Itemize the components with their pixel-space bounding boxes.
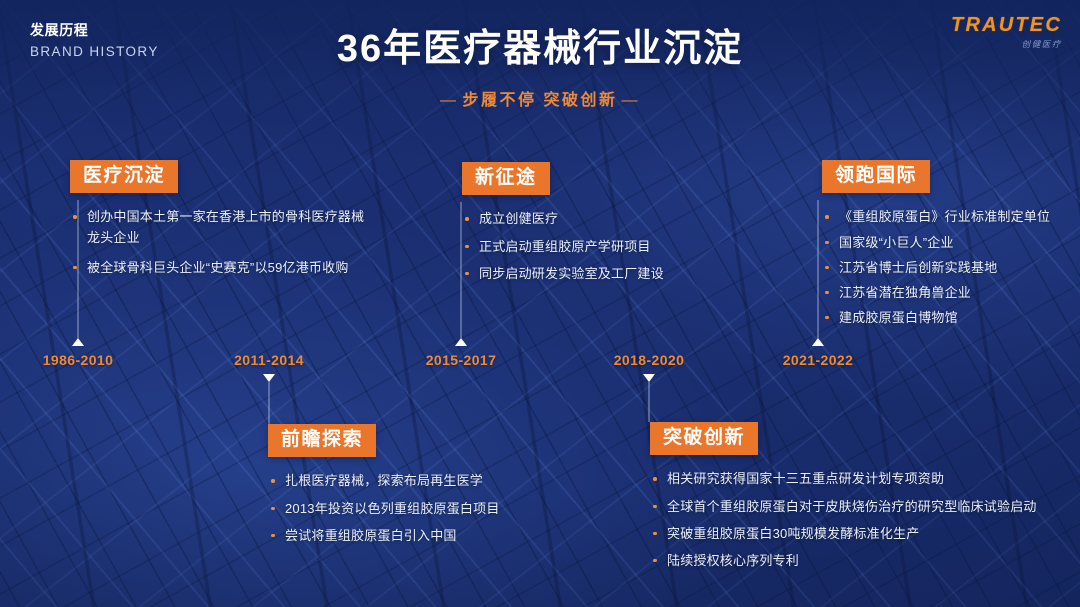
timeline-card-bullet: 全球首个重组胶原蛋白对于皮肤烧伤治疗的研究型临床试验启动 (650, 497, 1080, 517)
timeline-card-bullet: 相关研究获得国家十三五重点研发计划专项资助 (650, 469, 1080, 489)
timeline-card-bullet: 2013年投资以色列重组胶原蛋白项目 (268, 499, 568, 519)
subtitle-dash-right: — (617, 92, 644, 109)
timeline-card-bullet: 《重组胶原蛋白》行业标准制定单位 (822, 207, 1080, 227)
timeline-card-bullet: 扎根医疗器械，探索布局再生医学 (268, 471, 568, 491)
timeline-card-tag: 新征途 (462, 162, 550, 195)
timeline-card-tag: 医疗沉淀 (70, 160, 178, 193)
connector-stem (649, 382, 650, 422)
timeline-card-bullet: 同步启动研发实验室及工厂建设 (462, 264, 722, 284)
connector-arrow-up-icon (455, 338, 467, 346)
timeline-card-bullet: 江苏省博士后创新实践基地 (822, 258, 1080, 278)
timeline-connector (262, 374, 276, 424)
timeline-card-tag: 突破创新 (650, 422, 758, 455)
connector-stem (269, 382, 270, 424)
timeline-connector (642, 374, 656, 422)
timeline-card-bullet: 尝试将重组胶原蛋白引入中国 (268, 526, 568, 546)
timeline-card-tag: 领跑国际 (822, 160, 930, 193)
timeline-card-bullets: 创办中国本土第一家在香港上市的骨科医疗器械龙头企业被全球骨科巨头企业“史赛克”以… (70, 207, 370, 277)
page-title: 36年医疗器械行业沉淀 (0, 26, 1080, 74)
timeline-card[interactable]: 前瞻探索扎根医疗器械，探索布局再生医学2013年投资以色列重组胶原蛋白项目尝试将… (268, 424, 568, 546)
slide-root: 发展历程 BRAND HISTORY TRAUTEC 创健医疗 36年医疗器械行… (0, 0, 1080, 607)
timeline-card[interactable]: 医疗沉淀创办中国本土第一家在香港上市的骨科医疗器械龙头企业被全球骨科巨头企业“史… (70, 160, 370, 288)
timeline-year-label: 2015-2017 (426, 352, 497, 368)
timeline-card-bullet: 建成胶原蛋白博物馆 (822, 308, 1080, 328)
timeline-year-label: 2021-2022 (783, 352, 854, 368)
timeline-card-bullet: 正式启动重组胶原产学研项目 (462, 237, 722, 257)
timeline-card-bullets: 相关研究获得国家十三五重点研发计划专项资助全球首个重组胶原蛋白对于皮肤烧伤治疗的… (650, 469, 1080, 571)
timeline-card-bullet: 成立创健医疗 (462, 209, 722, 229)
connector-arrow-down-icon (263, 374, 275, 382)
timeline-card[interactable]: 领跑国际《重组胶原蛋白》行业标准制定单位国家级“小巨人”企业江苏省博士后创新实践… (822, 160, 1080, 333)
connector-arrow-up-icon (72, 338, 84, 346)
timeline-card-bullets: 《重组胶原蛋白》行业标准制定单位国家级“小巨人”企业江苏省博士后创新实践基地江苏… (822, 207, 1080, 328)
timeline-card-bullets: 扎根医疗器械，探索布局再生医学2013年投资以色列重组胶原蛋白项目尝试将重组胶原… (268, 471, 568, 545)
subtitle-dash-left: — (436, 92, 463, 109)
timeline-card-bullet: 创办中国本土第一家在香港上市的骨科医疗器械龙头企业 (70, 207, 370, 247)
timeline-card-tag: 前瞻探索 (268, 424, 376, 457)
timeline-card[interactable]: 新征途成立创健医疗正式启动重组胶原产学研项目同步启动研发实验室及工厂建设 (462, 162, 722, 284)
subtitle-text: 步履不停 突破创新 (463, 92, 618, 109)
timeline-card-bullets: 成立创健医疗正式启动重组胶原产学研项目同步启动研发实验室及工厂建设 (462, 209, 722, 283)
connector-stem (818, 200, 819, 338)
timeline-year-label: 2018-2020 (614, 352, 685, 368)
timeline-card-bullet: 被全球骨科巨头企业“史赛克”以59亿港币收购 (70, 258, 370, 278)
timeline-card-bullet: 陆续授权核心序列专利 (650, 551, 1080, 571)
timeline-card-bullet: 国家级“小巨人”企业 (822, 233, 1080, 253)
title-block: 36年医疗器械行业沉淀 —步履不停 突破创新— (0, 26, 1080, 110)
connector-arrow-up-icon (812, 338, 824, 346)
page-subtitle: —步履不停 突破创新— (0, 86, 1080, 110)
timeline-card[interactable]: 突破创新相关研究获得国家十三五重点研发计划专项资助全球首个重组胶原蛋白对于皮肤烧… (650, 422, 1080, 571)
timeline-card-bullet: 江苏省潜在独角兽企业 (822, 283, 1080, 303)
timeline-card-bullet: 突破重组胶原蛋白30吨规模发酵标准化生产 (650, 524, 1080, 544)
connector-arrow-down-icon (643, 374, 655, 382)
timeline-year-label: 1986-2010 (43, 352, 114, 368)
timeline-axis: 1986-20102011-20142015-20172018-20202021… (0, 352, 1080, 372)
timeline-year-label: 2011-2014 (234, 352, 304, 368)
